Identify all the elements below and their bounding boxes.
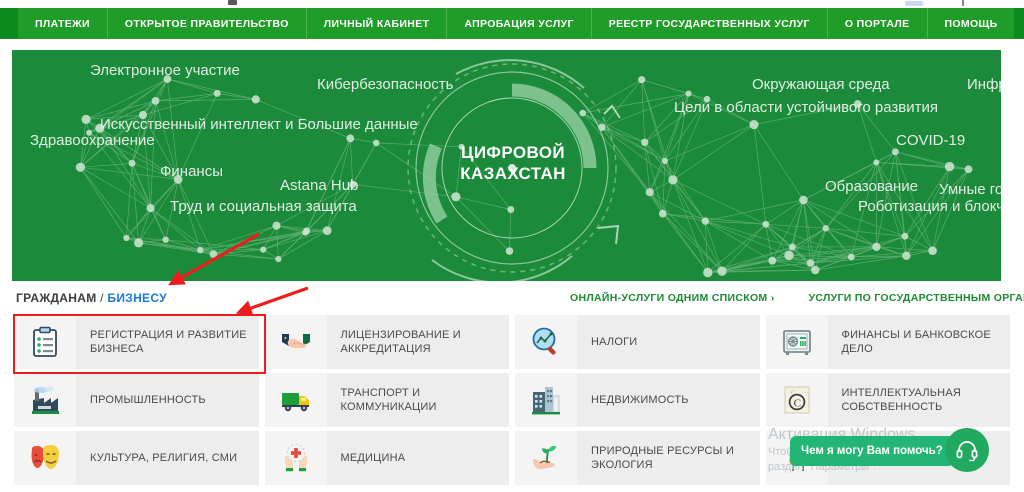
hero-center-title: ЦИФРОВОЙ КАЗАХСТАН xyxy=(428,142,598,184)
nav-item-2[interactable]: ЛИЧНЫЙ КАБИНЕТ xyxy=(307,8,448,39)
tile-icon-wrap xyxy=(265,431,327,485)
browser-chrome-sliver xyxy=(0,0,1024,8)
hero-title-line2: КАЗАХСТАН xyxy=(428,163,598,184)
tile-icon-wrap xyxy=(265,315,327,369)
audience-separator: / xyxy=(97,291,108,305)
handshake-icon xyxy=(280,326,312,358)
nav-item-1[interactable]: ОТКРЫТОЕ ПРАВИТЕЛЬСТВО xyxy=(108,8,307,39)
nav-item-4[interactable]: РЕЕСТР ГОСУДАРСТВЕННЫХ УСЛУГ xyxy=(592,8,828,39)
nav-items: ПЛАТЕЖИОТКРЫТОЕ ПРАВИТЕЛЬСТВОЛИЧНЫЙ КАБИ… xyxy=(18,8,1014,39)
tile-icon-wrap xyxy=(766,315,828,369)
headset-icon xyxy=(955,438,979,462)
tile-label: МЕДИЦИНА xyxy=(327,451,510,465)
tile-label: НЕДВИЖИМОСТЬ xyxy=(577,393,760,407)
theater-masks-icon xyxy=(29,442,61,474)
clipboard-list-icon xyxy=(29,326,61,358)
nav-item-6[interactable]: ПОМОЩЬ xyxy=(928,8,1015,39)
nav-left-edge xyxy=(0,8,18,39)
service-tile[interactable]: ЛИЦЕНЗИРОВАНИЕ И АККРЕДИТАЦИЯ xyxy=(265,315,510,369)
chat-prompt-text: Чем я могу Вам помочь? xyxy=(801,445,943,457)
buildings-icon xyxy=(530,384,562,416)
tile-label: НАЛОГИ xyxy=(577,335,760,349)
service-tile[interactable]: РЕГИСТРАЦИЯ И РАЗВИТИЕ БИЗНЕСА xyxy=(14,315,259,369)
medical-hands-icon xyxy=(280,442,312,474)
service-tile[interactable]: ФИНАНСЫ И БАНКОВСКОЕ ДЕЛО xyxy=(766,315,1011,369)
chat-support-button[interactable] xyxy=(945,428,989,472)
arrow-to-registration-tile xyxy=(240,288,308,312)
quick-link-0[interactable]: ОНЛАЙН-УСЛУГИ ОДНИМ СПИСКОМ › xyxy=(570,292,775,304)
tile-label: ЛИЦЕНЗИРОВАНИЕ И АККРЕДИТАЦИЯ xyxy=(327,328,510,356)
audience-business-link[interactable]: БИЗНЕСУ xyxy=(107,291,167,305)
service-tile[interactable]: ПРИРОДНЫЕ РЕСУРСЫ И ЭКОЛОГИЯ xyxy=(515,431,760,485)
tile-label: ПРИРОДНЫЕ РЕСУРСЫ И ЭКОЛОГИЯ xyxy=(577,444,760,472)
tile-label: ФИНАНСЫ И БАНКОВСКОЕ ДЕЛО xyxy=(828,328,1011,356)
tile-icon-wrap xyxy=(515,373,577,427)
chrome-fragment-edge xyxy=(962,0,964,6)
truck-icon xyxy=(280,384,312,416)
magnifier-chart-icon xyxy=(530,326,562,358)
tile-label: ПРОМЫШЛЕННОСТЬ xyxy=(76,393,259,407)
tile-icon-wrap: CC xyxy=(766,373,828,427)
tile-icon-wrap xyxy=(515,315,577,369)
service-tile[interactable]: НЕДВИЖИМОСТЬ xyxy=(515,373,760,427)
sprout-hand-icon xyxy=(530,442,562,474)
hero-title-line1: ЦИФРОВОЙ xyxy=(428,142,598,163)
nav-item-0[interactable]: ПЛАТЕЖИ xyxy=(18,8,108,39)
chrome-fragment-left xyxy=(228,0,237,5)
audience-citizens-link[interactable]: ГРАЖДАНАМ xyxy=(16,291,97,305)
tile-label: РЕГИСТРАЦИЯ И РАЗВИТИЕ БИЗНЕСА xyxy=(76,328,259,356)
audience-switch: ГРАЖДАНАМ / БИЗНЕСУ xyxy=(16,291,167,305)
service-tile[interactable]: ТРАНСПОРТ И КОММУНИКАЦИИ xyxy=(265,373,510,427)
tile-icon-wrap xyxy=(515,431,577,485)
hero-banner[interactable]: Электронное участиеКибербезопасностьИску… xyxy=(12,50,1001,281)
service-tile[interactable]: ПРОМЫШЛЕННОСТЬ xyxy=(14,373,259,427)
tile-icon-wrap xyxy=(14,373,76,427)
tile-label: ТРАНСПОРТ И КОММУНИКАЦИИ xyxy=(327,386,510,414)
factory-icon xyxy=(29,384,61,416)
quick-link-1[interactable]: УСЛУГИ ПО ГОСУДАРСТВЕННЫМ ОРГАНАМ › xyxy=(809,292,1024,304)
tile-icon-wrap xyxy=(265,373,327,427)
service-tile[interactable]: МЕДИЦИНА xyxy=(265,431,510,485)
tile-icon-wrap xyxy=(14,431,76,485)
page-root: ПЛАТЕЖИОТКРЫТОЕ ПРАВИТЕЛЬСТВОЛИЧНЫЙ КАБИ… xyxy=(0,0,1024,492)
service-tile[interactable]: КУЛЬТУРА, РЕЛИГИЯ, СМИ xyxy=(14,431,259,485)
tile-label: КУЛЬТУРА, РЕЛИГИЯ, СМИ xyxy=(76,451,259,465)
tile-label: ИНТЕЛЛЕКТУАЛЬНАЯ СОБСТВЕННОСТЬ xyxy=(828,386,1011,414)
service-tile[interactable]: CCИНТЕЛЛЕКТУАЛЬНАЯ СОБСТВЕННОСТЬ xyxy=(766,373,1011,427)
main-navigation: ПЛАТЕЖИОТКРЫТОЕ ПРАВИТЕЛЬСТВОЛИЧНЫЙ КАБИ… xyxy=(0,8,1024,39)
copyright-icon: CC xyxy=(781,384,813,416)
quick-links: ОНЛАЙН-УСЛУГИ ОДНИМ СПИСКОМ ›УСЛУГИ ПО Г… xyxy=(570,292,1024,304)
chrome-fragment-right xyxy=(905,1,923,6)
safe-vault-icon xyxy=(781,326,813,358)
svg-text:C: C xyxy=(793,397,800,409)
nav-right-edge xyxy=(1014,8,1024,39)
tile-icon-wrap xyxy=(14,315,76,369)
nav-item-5[interactable]: О ПОРТАЛЕ xyxy=(828,8,928,39)
service-tile[interactable]: НАЛОГИ xyxy=(515,315,760,369)
nav-item-3[interactable]: АПРОБАЦИЯ УСЛУГ xyxy=(447,8,591,39)
chat-prompt-bubble[interactable]: Чем я могу Вам помочь? xyxy=(790,436,954,466)
